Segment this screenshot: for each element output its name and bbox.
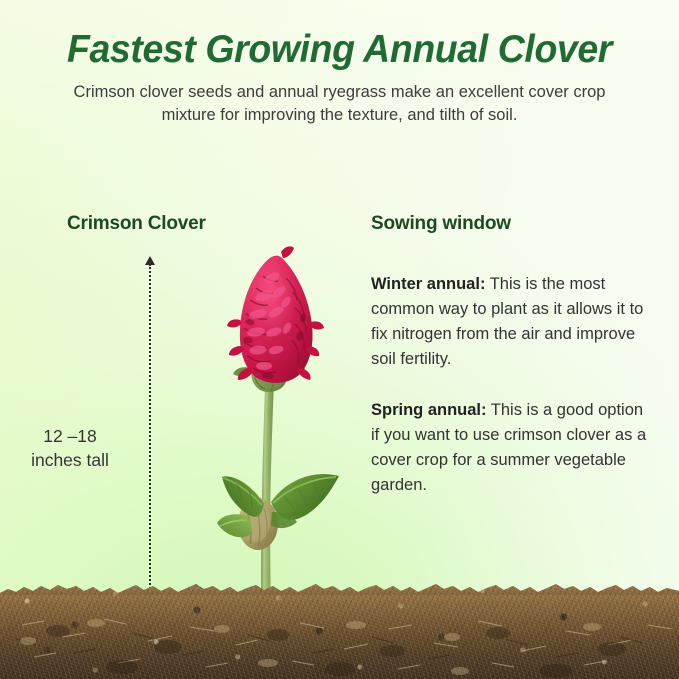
- right-panel-heading: Sowing window: [371, 213, 511, 235]
- header: Fastest Growing Annual Clover Crimson cl…: [0, 28, 679, 127]
- height-measure-label: 12 –18 inches tall: [0, 424, 140, 472]
- height-measure: [145, 256, 155, 601]
- sowing-item-label: Spring annual:: [371, 401, 487, 419]
- page-title: Fastest Growing Annual Clover: [14, 28, 666, 72]
- soil-texture: [0, 579, 679, 679]
- height-measure-unit: inches tall: [0, 448, 140, 472]
- sowing-item-winter-annual: Winter annual: This is the most common w…: [371, 272, 651, 372]
- sowing-item-spring-annual: Spring annual: This is a good option if …: [371, 398, 651, 498]
- infographic-canvas: Fastest Growing Annual Clover Crimson cl…: [0, 0, 679, 679]
- height-measure-value: 12 –18: [0, 424, 140, 448]
- dotted-measure-line: [149, 264, 151, 601]
- page-subtitle: Crimson clover seeds and annual ryegrass…: [55, 81, 625, 127]
- left-panel-heading: Crimson Clover: [67, 213, 206, 235]
- soil-layer: [0, 579, 679, 679]
- sowing-item-label: Winter annual:: [371, 275, 485, 293]
